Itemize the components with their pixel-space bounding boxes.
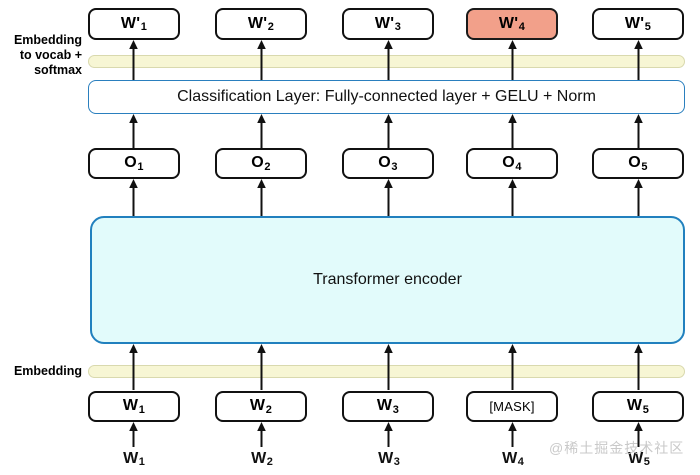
- label-embedding: Embedding: [0, 364, 82, 379]
- output-token-label-1: W'1: [121, 15, 147, 33]
- input-token-label-4: [MASK]: [489, 398, 534, 416]
- arrow-classification-to-output-1: [128, 40, 139, 80]
- input-token-box-5: W5: [592, 391, 684, 422]
- label-embedding-to-vocab-softmax: Embedding to vocab + softmax: [0, 33, 82, 78]
- output-token-label-4: W'4: [499, 15, 525, 33]
- encoder-output-box-3: O3: [342, 148, 434, 179]
- arrow-encoder-output-2-to-classification: [256, 114, 267, 148]
- arrow-encoder-to-output-5: [633, 179, 644, 216]
- transformer-encoder-label: Transformer encoder: [313, 271, 462, 289]
- classification-layer-box: Classification Layer: Fully-connected la…: [88, 80, 685, 114]
- transformer-encoder-box: Transformer encoder: [90, 216, 685, 344]
- arrow-classification-to-output-3: [383, 40, 394, 80]
- arrow-classification-to-output-5: [633, 40, 644, 80]
- arrow-input-2-to-encoder: [256, 344, 267, 390]
- arrow-input-4-to-encoder: [507, 344, 518, 390]
- encoder-output-box-5: O5: [592, 148, 684, 179]
- watermark-text: @稀土掘金技术社区: [549, 438, 684, 458]
- raw-token-3: W3: [353, 450, 425, 468]
- encoder-output-box-4: O4: [466, 148, 558, 179]
- encoder-output-box-2: O2: [215, 148, 307, 179]
- input-token-box-3: W3: [342, 391, 434, 422]
- arrow-input-5-to-encoder: [633, 344, 644, 390]
- arrow-raw-token-3-to-input-3: [383, 422, 394, 447]
- raw-token-4: W4: [477, 450, 549, 468]
- arrow-encoder-to-output-3: [383, 179, 394, 216]
- input-token-label-3: W3: [377, 397, 399, 415]
- arrow-encoder-output-3-to-classification: [383, 114, 394, 148]
- arrow-raw-token-4-to-input-4: [507, 422, 518, 447]
- label-embedding-text: Embedding: [0, 364, 82, 379]
- encoder-output-label-1: O1: [124, 154, 143, 172]
- output-token-label-2: W'2: [248, 15, 274, 33]
- classification-layer-label: Classification Layer: Fully-connected la…: [177, 88, 596, 106]
- arrow-encoder-to-output-1: [128, 179, 139, 216]
- input-token-box-2: W2: [215, 391, 307, 422]
- output-token-box-2: W'2: [215, 8, 307, 40]
- label-embedding-to-vocab-line3: softmax: [0, 63, 82, 78]
- input-token-label-5: W5: [627, 397, 649, 415]
- encoder-output-label-4: O4: [502, 154, 521, 172]
- output-token-box-4-masked: W'4: [466, 8, 558, 40]
- output-token-label-3: W'3: [375, 15, 401, 33]
- arrow-encoder-output-4-to-classification: [507, 114, 518, 148]
- arrow-input-3-to-encoder: [383, 344, 394, 390]
- arrow-encoder-output-5-to-classification: [633, 114, 644, 148]
- output-token-label-5: W'5: [625, 15, 651, 33]
- arrow-encoder-to-output-4: [507, 179, 518, 216]
- arrow-classification-to-output-4: [507, 40, 518, 80]
- input-token-box-4-mask: [MASK]: [466, 391, 558, 422]
- arrow-input-1-to-encoder: [128, 344, 139, 390]
- arrow-raw-token-2-to-input-2: [256, 422, 267, 447]
- encoder-output-label-2: O2: [251, 154, 270, 172]
- encoder-output-label-5: O5: [628, 154, 647, 172]
- input-token-label-2: W2: [250, 397, 272, 415]
- encoder-output-box-1: O1: [88, 148, 180, 179]
- arrow-encoder-to-output-2: [256, 179, 267, 216]
- label-embedding-to-vocab-line2: to vocab +: [0, 48, 82, 63]
- label-embedding-to-vocab-line1: Embedding: [0, 33, 82, 48]
- input-token-label-1: W1: [123, 397, 145, 415]
- encoder-output-label-3: O3: [378, 154, 397, 172]
- output-token-box-5: W'5: [592, 8, 684, 40]
- raw-token-2: W2: [226, 450, 298, 468]
- input-token-box-1: W1: [88, 391, 180, 422]
- raw-token-1: W1: [98, 450, 170, 468]
- bert-mlm-diagram: W'1 W'2 W'3 W'4 W'5 Embedding to vocab +…: [0, 0, 700, 475]
- arrow-encoder-output-1-to-classification: [128, 114, 139, 148]
- output-token-box-1: W'1: [88, 8, 180, 40]
- output-token-box-3: W'3: [342, 8, 434, 40]
- arrow-classification-to-output-2: [256, 40, 267, 80]
- arrow-raw-token-1-to-input-1: [128, 422, 139, 447]
